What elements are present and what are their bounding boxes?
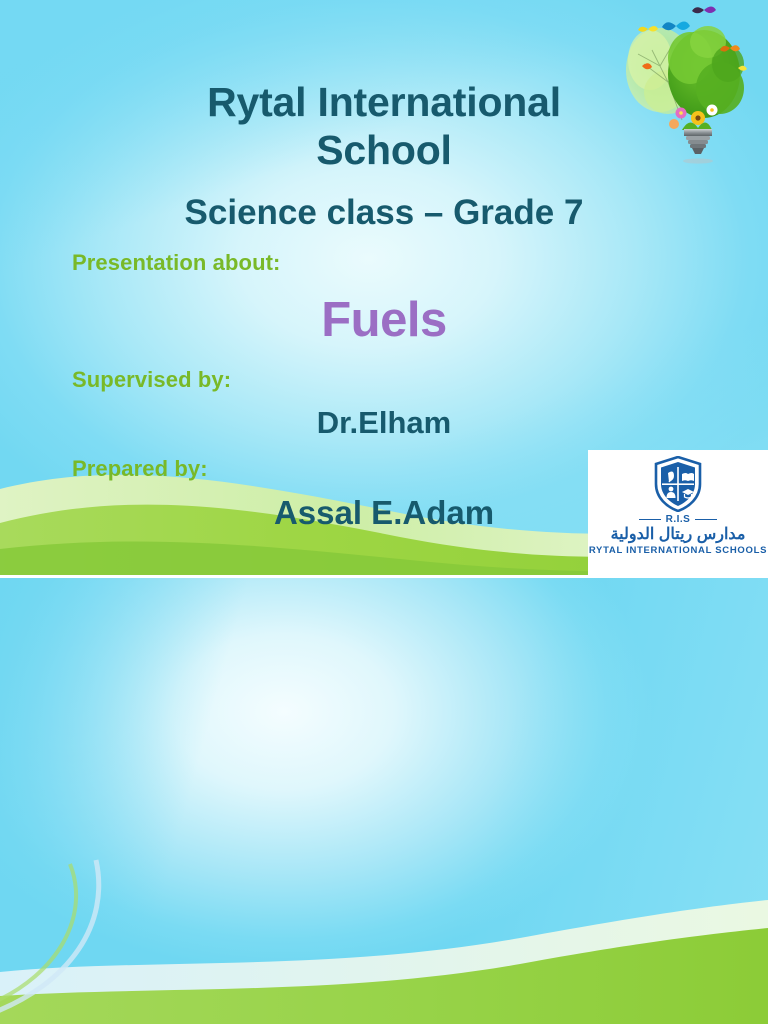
- slide-1-title-block: Rytal International School: [0, 78, 768, 175]
- class-grade-subtitle: Science class – Grade 7: [0, 193, 768, 233]
- supervisor-name-value: Dr.Elham: [0, 405, 768, 441]
- slide-1[interactable]: Rytal International School Science class…: [0, 0, 768, 575]
- logo-abbreviation-row: R.I.S: [588, 514, 768, 525]
- butterfly-blue-icon: [662, 22, 690, 31]
- logo-rule-right: [695, 519, 717, 521]
- school-name-line1: Rytal International: [0, 78, 768, 126]
- prepared-by-label: Prepared by:: [72, 456, 208, 482]
- school-shield-icon: [653, 456, 703, 512]
- supervised-by-label: Supervised by:: [72, 367, 231, 393]
- presentation-about-label: Presentation about:: [72, 250, 280, 276]
- school-name-line2: School: [0, 126, 768, 174]
- logo-arabic-name: مدارس ريتال الدولية: [611, 526, 746, 544]
- presentation-topic-value: Fuels: [0, 292, 768, 348]
- slide-deck: Rytal International School Science class…: [0, 0, 768, 1024]
- logo-abbreviation: R.I.S: [666, 514, 691, 525]
- butterfly-purple-icon: [692, 7, 716, 14]
- logo-english-name: RYTAL INTERNATIONAL SCHOOLS: [589, 545, 767, 556]
- slide-2[interactable]: Fuels: [0, 578, 768, 1024]
- logo-rule-left: [639, 519, 661, 521]
- school-logo-card: R.I.S مدارس ريتال الدولية RYTAL INTERNAT…: [588, 450, 768, 575]
- green-wave-decoration-slide2: [0, 854, 768, 1024]
